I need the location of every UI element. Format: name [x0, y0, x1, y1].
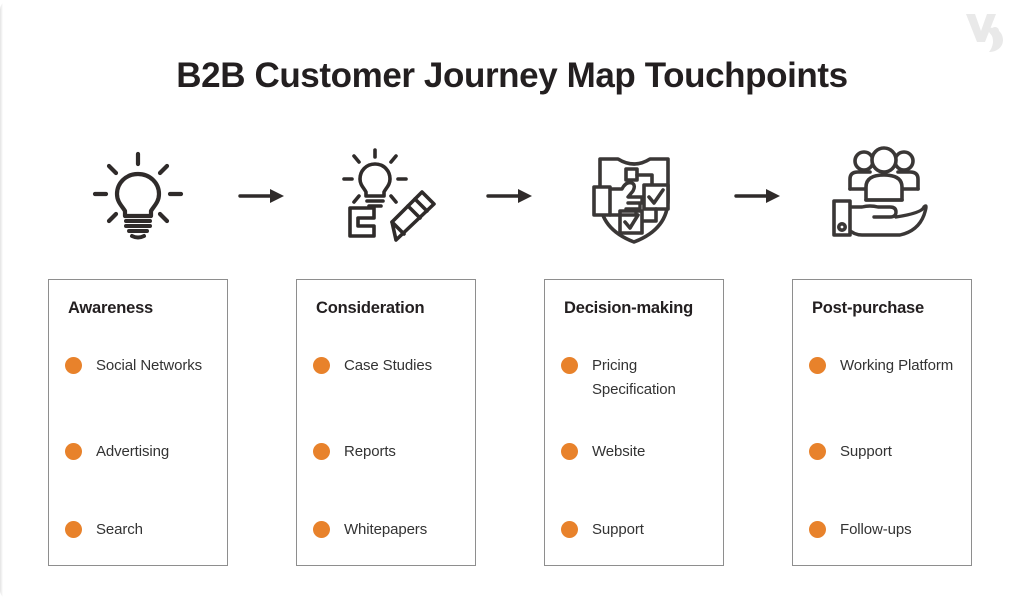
bullet-dot-icon	[809, 521, 826, 538]
infographic-canvas: B2B Customer Journey Map Touchpoints	[0, 0, 1024, 600]
touchpoint-label: Pricing Specification	[592, 354, 715, 402]
bullet-dot-icon	[561, 521, 578, 538]
bullet-dot-icon	[561, 357, 578, 374]
touchpoint-label: Follow-ups	[840, 518, 912, 542]
touchpoint-label: Case Studies	[344, 354, 432, 378]
flow-arrow-2	[476, 143, 544, 248]
stage-icon-awareness	[48, 143, 228, 248]
bullet-dot-icon	[809, 443, 826, 460]
touchpoint-label: Website	[592, 440, 645, 464]
touchpoint-label: Search	[96, 518, 143, 542]
touchpoint-label: Support	[592, 518, 644, 542]
flow-arrow-1	[228, 143, 296, 248]
bullet-dot-icon	[809, 357, 826, 374]
stage-icon-strip	[48, 143, 976, 248]
list-item: Support	[809, 440, 963, 464]
list-item: Advertising	[65, 440, 219, 464]
stage-title: Post-purchase	[812, 299, 924, 318]
list-item: Search	[65, 518, 219, 542]
bullet-dot-icon	[313, 357, 330, 374]
list-item: Whitepapers	[313, 518, 467, 542]
touchpoint-label: Social Networks	[96, 354, 202, 378]
bullet-dot-icon	[313, 443, 330, 460]
bullet-dot-icon	[65, 443, 82, 460]
list-item: Website	[561, 440, 715, 464]
stage-title: Awareness	[68, 299, 153, 318]
bullet-dot-icon	[65, 357, 82, 374]
stage-icon-consideration	[296, 143, 476, 248]
stage-title: Consideration	[316, 299, 424, 318]
touchpoint-label: Support	[840, 440, 892, 464]
bullet-dot-icon	[561, 443, 578, 460]
stage-icon-decision-making	[544, 143, 724, 248]
page-title: B2B Customer Journey Map Touchpoints	[0, 56, 1024, 96]
stage-card-row: Awareness Social Networks Advertising Se…	[48, 279, 976, 566]
stage-icon-post-purchase	[792, 143, 972, 248]
stage-card-awareness: Awareness Social Networks Advertising Se…	[48, 279, 228, 566]
stage-card-post-purchase: Post-purchase Working Platform Support F…	[792, 279, 972, 566]
stage-card-consideration: Consideration Case Studies Reports White…	[296, 279, 476, 566]
bullet-dot-icon	[65, 521, 82, 538]
touchpoint-label: Working Platform	[840, 354, 953, 378]
list-item: Pricing Specification	[561, 354, 715, 402]
stage-title: Decision-making	[564, 299, 693, 318]
venngage-logo-watermark	[962, 8, 1006, 54]
touchpoint-label: Reports	[344, 440, 396, 464]
list-item: Working Platform	[809, 354, 963, 378]
stage-card-decision-making: Decision-making Pricing Specification We…	[544, 279, 724, 566]
bullet-dot-icon	[313, 521, 330, 538]
list-item: Case Studies	[313, 354, 467, 378]
touchpoint-list: Pricing Specification Website Support	[561, 346, 715, 543]
list-item: Support	[561, 518, 715, 542]
touchpoint-label: Advertising	[96, 440, 169, 464]
touchpoint-list: Social Networks Advertising Search	[65, 346, 219, 543]
flow-arrow-3	[724, 143, 792, 248]
list-item: Social Networks	[65, 354, 219, 378]
list-item: Reports	[313, 440, 467, 464]
list-item: Follow-ups	[809, 518, 963, 542]
touchpoint-list: Working Platform Support Follow-ups	[809, 346, 963, 543]
touchpoint-label: Whitepapers	[344, 518, 427, 542]
touchpoint-list: Case Studies Reports Whitepapers	[313, 346, 467, 543]
